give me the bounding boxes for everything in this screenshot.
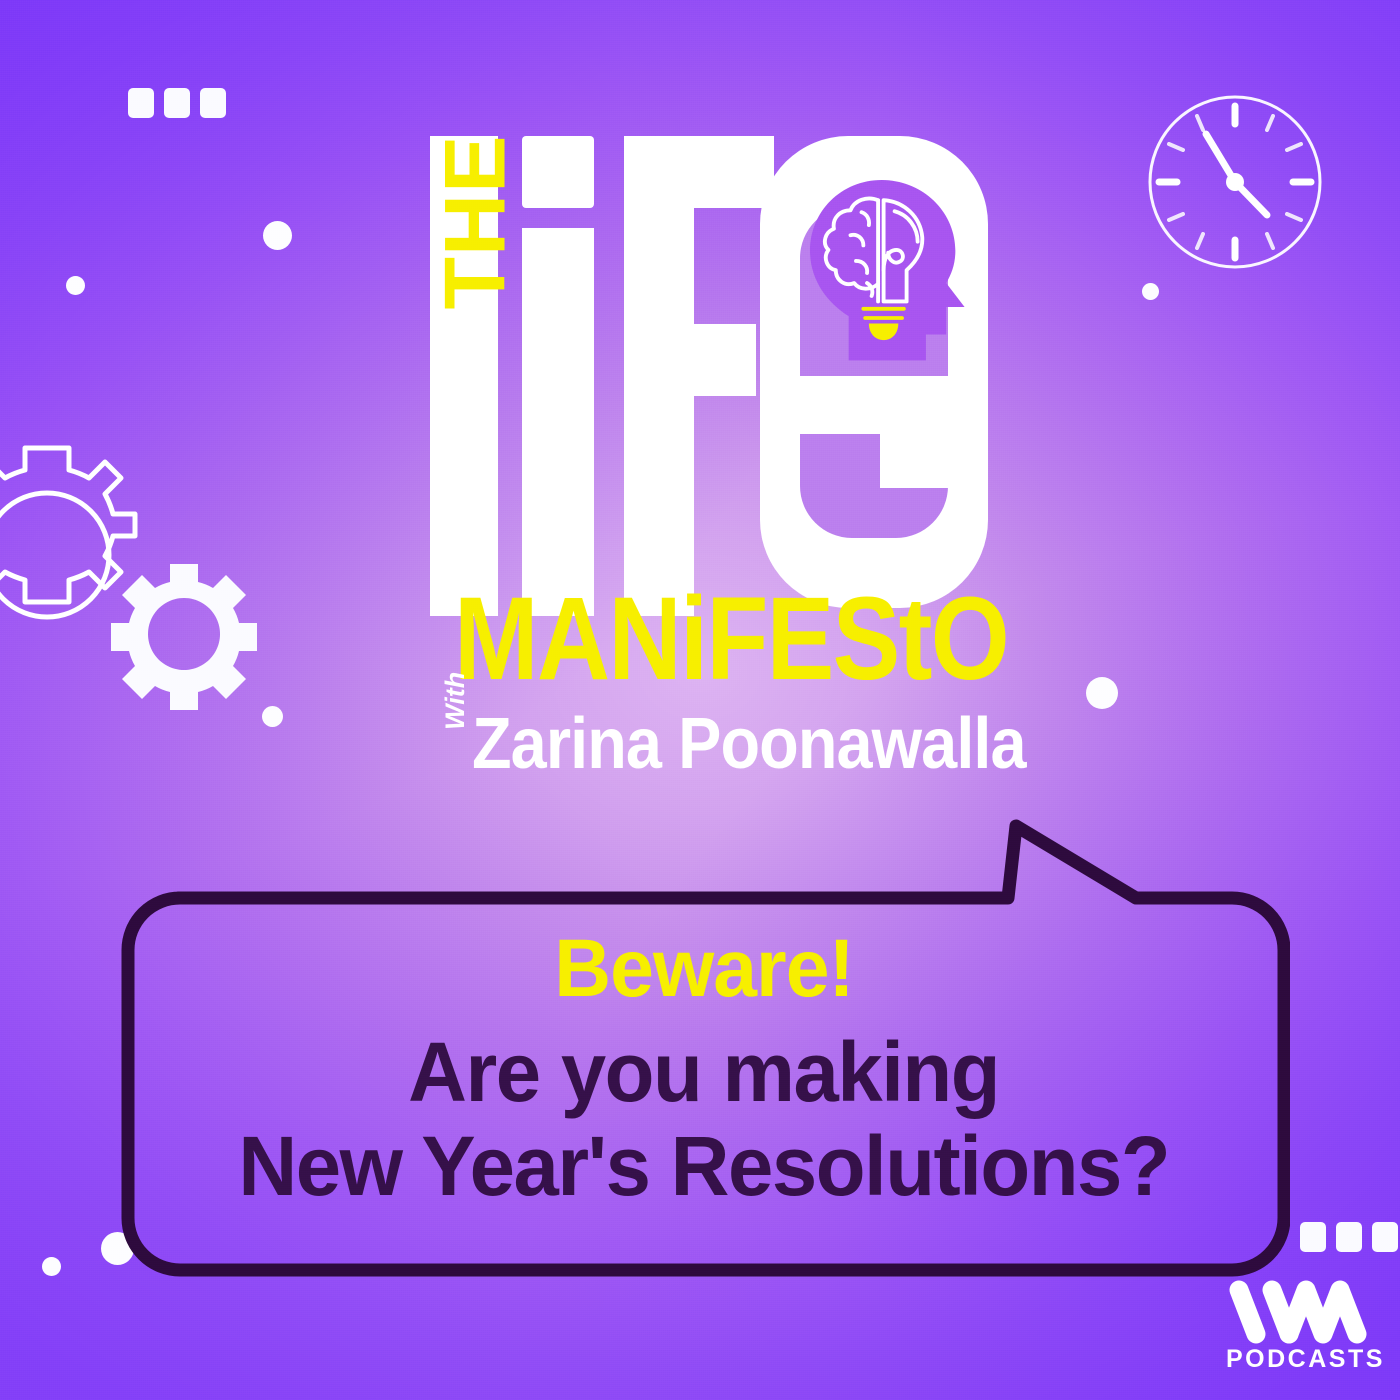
square-decoration (1372, 1222, 1398, 1252)
byline-host-name: Zarina Poonawalla (472, 708, 1026, 780)
circle-dot-decoration (1086, 677, 1118, 709)
speech-bubble-content: Beware! Are you making New Year's Resolu… (118, 812, 1290, 1282)
square-decoration (1336, 1222, 1362, 1252)
circle-dot-decoration (66, 276, 85, 295)
square-decoration (200, 88, 226, 118)
podcast-cover-art: THE MANiFEStO With Zarina Poonawalla Bew… (0, 0, 1400, 1400)
show-logo: THE MANiFEStO With Zarina Poonawalla (418, 128, 988, 768)
logo-the-label: THE (436, 150, 515, 310)
bubble-question-line-2: New Year's Resolutions? (239, 1119, 1170, 1213)
ivm-podcasts-label: PODCASTS (1226, 1345, 1368, 1374)
logo-manifesto-label: MANiFEStO (454, 580, 953, 698)
bubble-question-line-1: Are you making (409, 1025, 1000, 1119)
circle-dot-decoration (263, 221, 292, 250)
ivm-mark-icon (1226, 1276, 1368, 1348)
logo-byline: With Zarina Poonawalla (440, 708, 1040, 778)
circle-dot-decoration (1142, 283, 1159, 300)
circle-dot-decoration (262, 706, 283, 727)
square-decoration (1300, 1222, 1326, 1252)
clock-icon (1145, 92, 1325, 272)
square-decoration (128, 88, 154, 118)
three-squares-decoration (1300, 1222, 1398, 1252)
three-squares-decoration (128, 88, 226, 118)
square-decoration (164, 88, 190, 118)
bubble-headline: Beware! (554, 927, 854, 1011)
byline-with-label: With (440, 672, 471, 730)
circle-dot-decoration (42, 1257, 61, 1276)
ivm-podcasts-logo: PODCASTS (1226, 1276, 1368, 1376)
gear-solid-icon (108, 558, 260, 710)
speech-bubble: Beware! Are you making New Year's Resolu… (118, 812, 1290, 1282)
